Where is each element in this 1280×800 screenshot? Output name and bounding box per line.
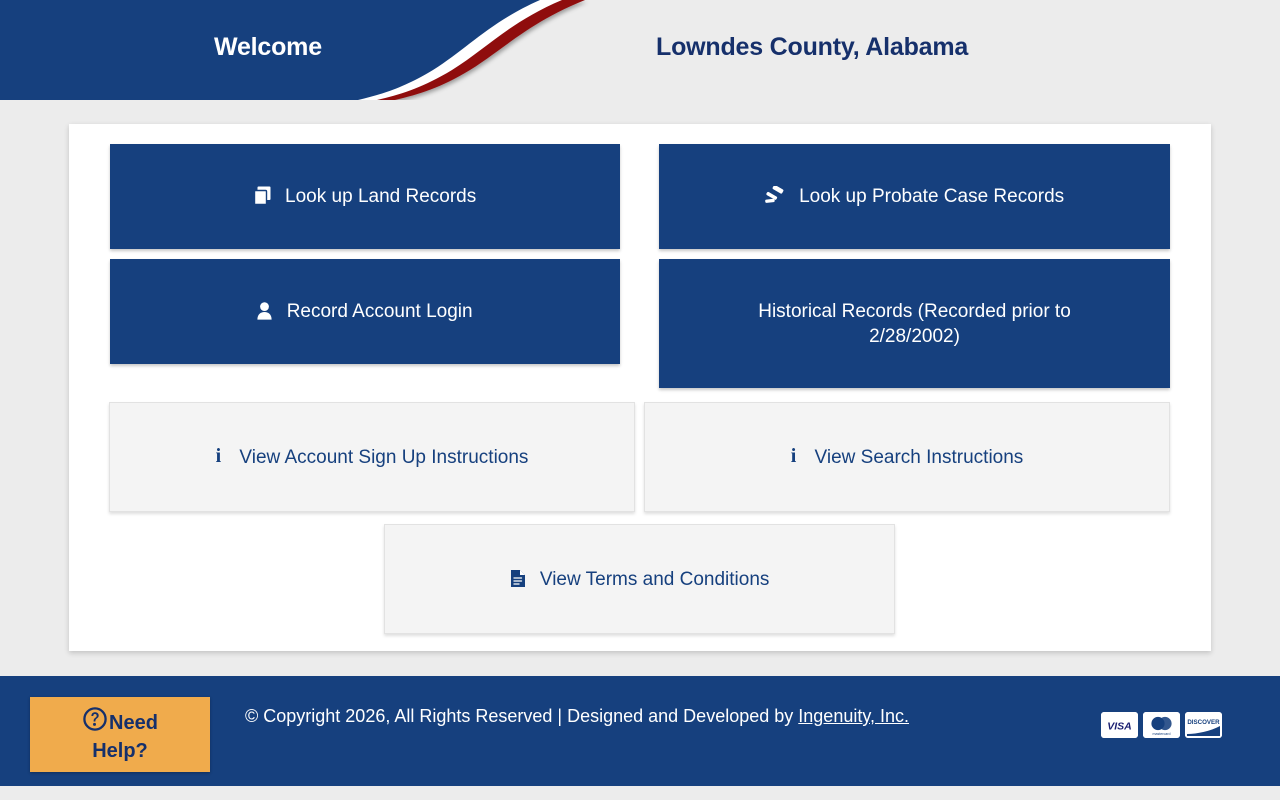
user-icon (257, 302, 272, 320)
svg-text:mastercard: mastercard (1153, 732, 1171, 736)
site-header: Welcome Lowndes County, Alabama (0, 0, 1280, 100)
copyright-text: © Copyright 2026, All Rights Reserved | … (245, 706, 793, 726)
gavel-icon (765, 186, 785, 205)
historical-records-label: Historical Records (Recorded prior to 2/… (725, 299, 1105, 349)
info-icon: i (791, 445, 797, 467)
view-terms-and-conditions-button[interactable]: View Terms and Conditions (384, 524, 895, 634)
look-up-land-records-button[interactable]: Look up Land Records (110, 144, 620, 249)
view-account-sign-up-instructions-label: View Account Sign Up Instructions (239, 447, 528, 468)
need-help-line1: Need (109, 712, 158, 734)
view-search-instructions-label: View Search Instructions (815, 447, 1024, 468)
record-account-login-label: Record Account Login (287, 301, 473, 322)
mastercard-card-icon: mastercard (1143, 712, 1180, 738)
record-account-login-button[interactable]: Record Account Login (110, 259, 620, 364)
book-icon (254, 186, 271, 205)
view-account-sign-up-instructions-button[interactable]: i View Account Sign Up Instructions (109, 402, 635, 512)
payment-cards: VISA mastercard DISCOVER (1101, 712, 1222, 738)
document-icon (510, 569, 526, 588)
developer-link[interactable]: Ingenuity, Inc. (798, 706, 909, 726)
visa-card-icon: VISA (1101, 712, 1138, 738)
look-up-probate-case-records-button[interactable]: Look up Probate Case Records (659, 144, 1170, 249)
copyright-block: © Copyright 2026, All Rights Reserved | … (245, 702, 965, 731)
header-banner-graphic (0, 0, 1280, 100)
historical-records-button[interactable]: Historical Records (Recorded prior to 2/… (659, 259, 1170, 388)
need-help-line2: Help? (92, 740, 148, 762)
svg-text:VISA: VISA (1107, 721, 1132, 733)
main-content-card: Look up Land Records Look up Probate Cas… (69, 124, 1211, 651)
look-up-probate-case-records-label: Look up Probate Case Records (799, 186, 1064, 207)
discover-card-icon: DISCOVER (1185, 712, 1222, 738)
info-icon: i (216, 445, 222, 467)
page-title: Lowndes County, Alabama (656, 33, 968, 62)
question-circle-icon (82, 706, 108, 739)
view-search-instructions-button[interactable]: i View Search Instructions (644, 402, 1170, 512)
need-help-button[interactable]: Need Help? (30, 697, 210, 772)
look-up-land-records-label: Look up Land Records (285, 186, 476, 207)
view-terms-and-conditions-label: View Terms and Conditions (540, 569, 770, 590)
svg-text:DISCOVER: DISCOVER (1187, 719, 1220, 726)
welcome-label: Welcome (214, 33, 322, 62)
